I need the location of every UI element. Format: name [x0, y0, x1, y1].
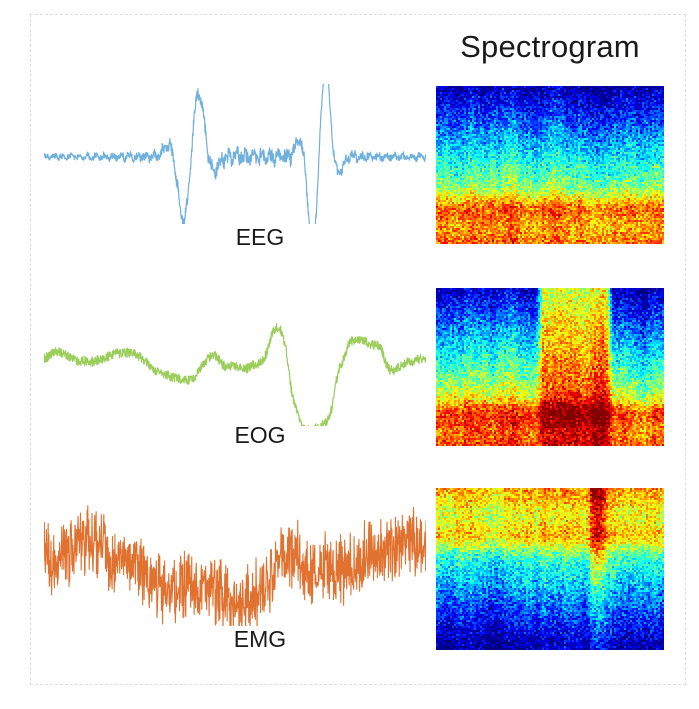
waveform-eeg: [44, 84, 426, 224]
signal-row-eog: EOG: [0, 286, 699, 466]
spectrogram-emg: [436, 488, 664, 650]
signal-label-emg: EMG: [180, 626, 340, 653]
spectrogram-eeg: [436, 86, 664, 244]
waveform-emg: [44, 486, 426, 626]
page-title: Spectrogram: [430, 26, 670, 68]
signal-row-eeg: EEG: [0, 84, 699, 264]
signal-label-eog: EOG: [180, 422, 340, 449]
signal-row-emg: EMG: [0, 486, 699, 671]
spectrogram-eog: [436, 288, 664, 446]
figure-canvas: Spectrogram EEG EOG EMG: [0, 0, 699, 709]
waveform-eog: [44, 286, 426, 426]
signal-label-eeg: EEG: [180, 224, 340, 251]
